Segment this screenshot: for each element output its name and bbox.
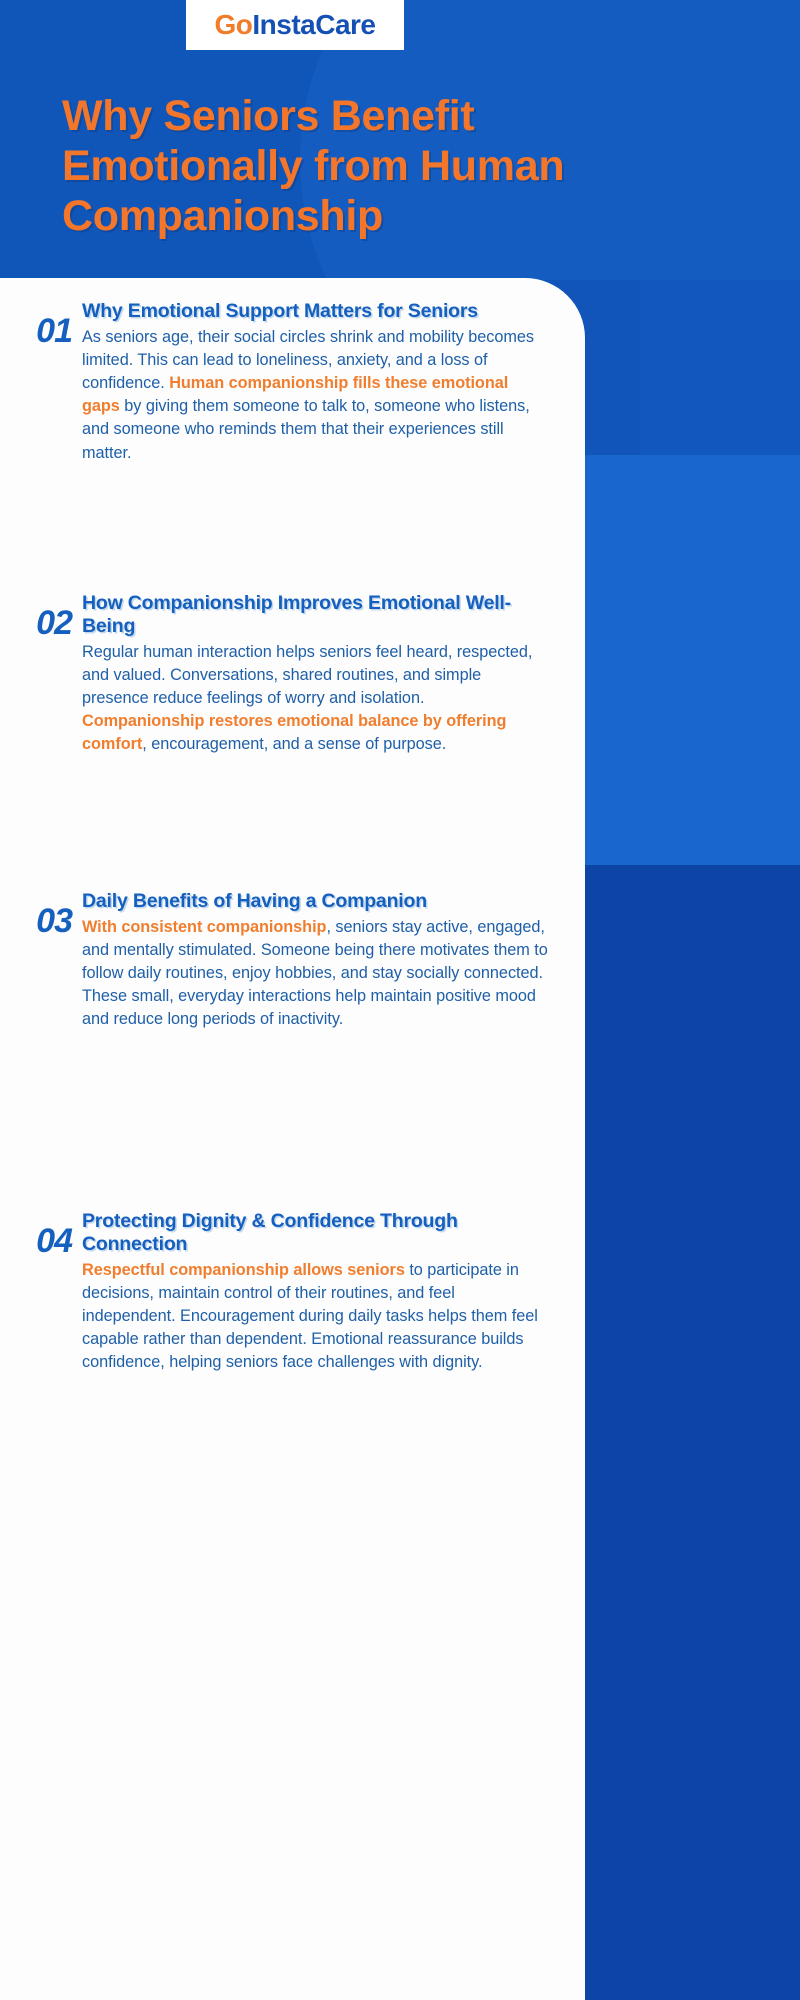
section-number: 04 — [0, 1210, 82, 1258]
section-heading: Why Emotional Support Matters for Senior… — [82, 300, 549, 323]
section-item: 01Why Emotional Support Matters for Seni… — [0, 300, 585, 465]
body-text-run: , encouragement, and a sense of purpose. — [142, 735, 446, 753]
section-body: As seniors age, their social circles shr… — [82, 326, 549, 465]
section-heading: How Companionship Improves Emotional Wel… — [82, 592, 549, 638]
logo-go-text: Go — [214, 9, 252, 40]
body-text-run: Regular human interaction helps seniors … — [82, 643, 532, 707]
section-body: With consistent companionship, seniors s… — [82, 916, 549, 1032]
brand-logo: GoInstaCare — [186, 0, 404, 50]
section-heading: Protecting Dignity & Confidence Through … — [82, 1210, 549, 1256]
logo-instacare-text: InstaCare — [252, 9, 375, 40]
section-number: 02 — [0, 592, 82, 640]
right-blue-panel-light — [585, 455, 800, 865]
page-title: Why Seniors Benefit Emotionally from Hum… — [62, 91, 582, 242]
section-item: 02How Companionship Improves Emotional W… — [0, 592, 585, 756]
section-number: 03 — [0, 890, 82, 938]
content-card: 01Why Emotional Support Matters for Seni… — [0, 278, 585, 2000]
section-body: Regular human interaction helps seniors … — [82, 641, 549, 757]
body-text-run: by giving them someone to talk to, someo… — [82, 397, 530, 461]
section-body: Respectful companionship allows seniors … — [82, 1259, 549, 1375]
section-number: 01 — [0, 300, 82, 348]
header-banner: GoInstaCare Why Seniors Benefit Emotiona… — [0, 0, 800, 280]
section-item: 04Protecting Dignity & Confidence Throug… — [0, 1210, 585, 1374]
right-blue-panel-dark — [585, 865, 800, 2000]
highlighted-phrase: With consistent companionship — [82, 918, 326, 936]
infographic-page: GoInstaCare Why Seniors Benefit Emotiona… — [0, 0, 800, 2000]
highlighted-phrase: Respectful companionship allows seniors — [82, 1261, 405, 1279]
section-heading: Daily Benefits of Having a Companion — [82, 890, 549, 913]
section-item: 03Daily Benefits of Having a CompanionWi… — [0, 890, 585, 1032]
